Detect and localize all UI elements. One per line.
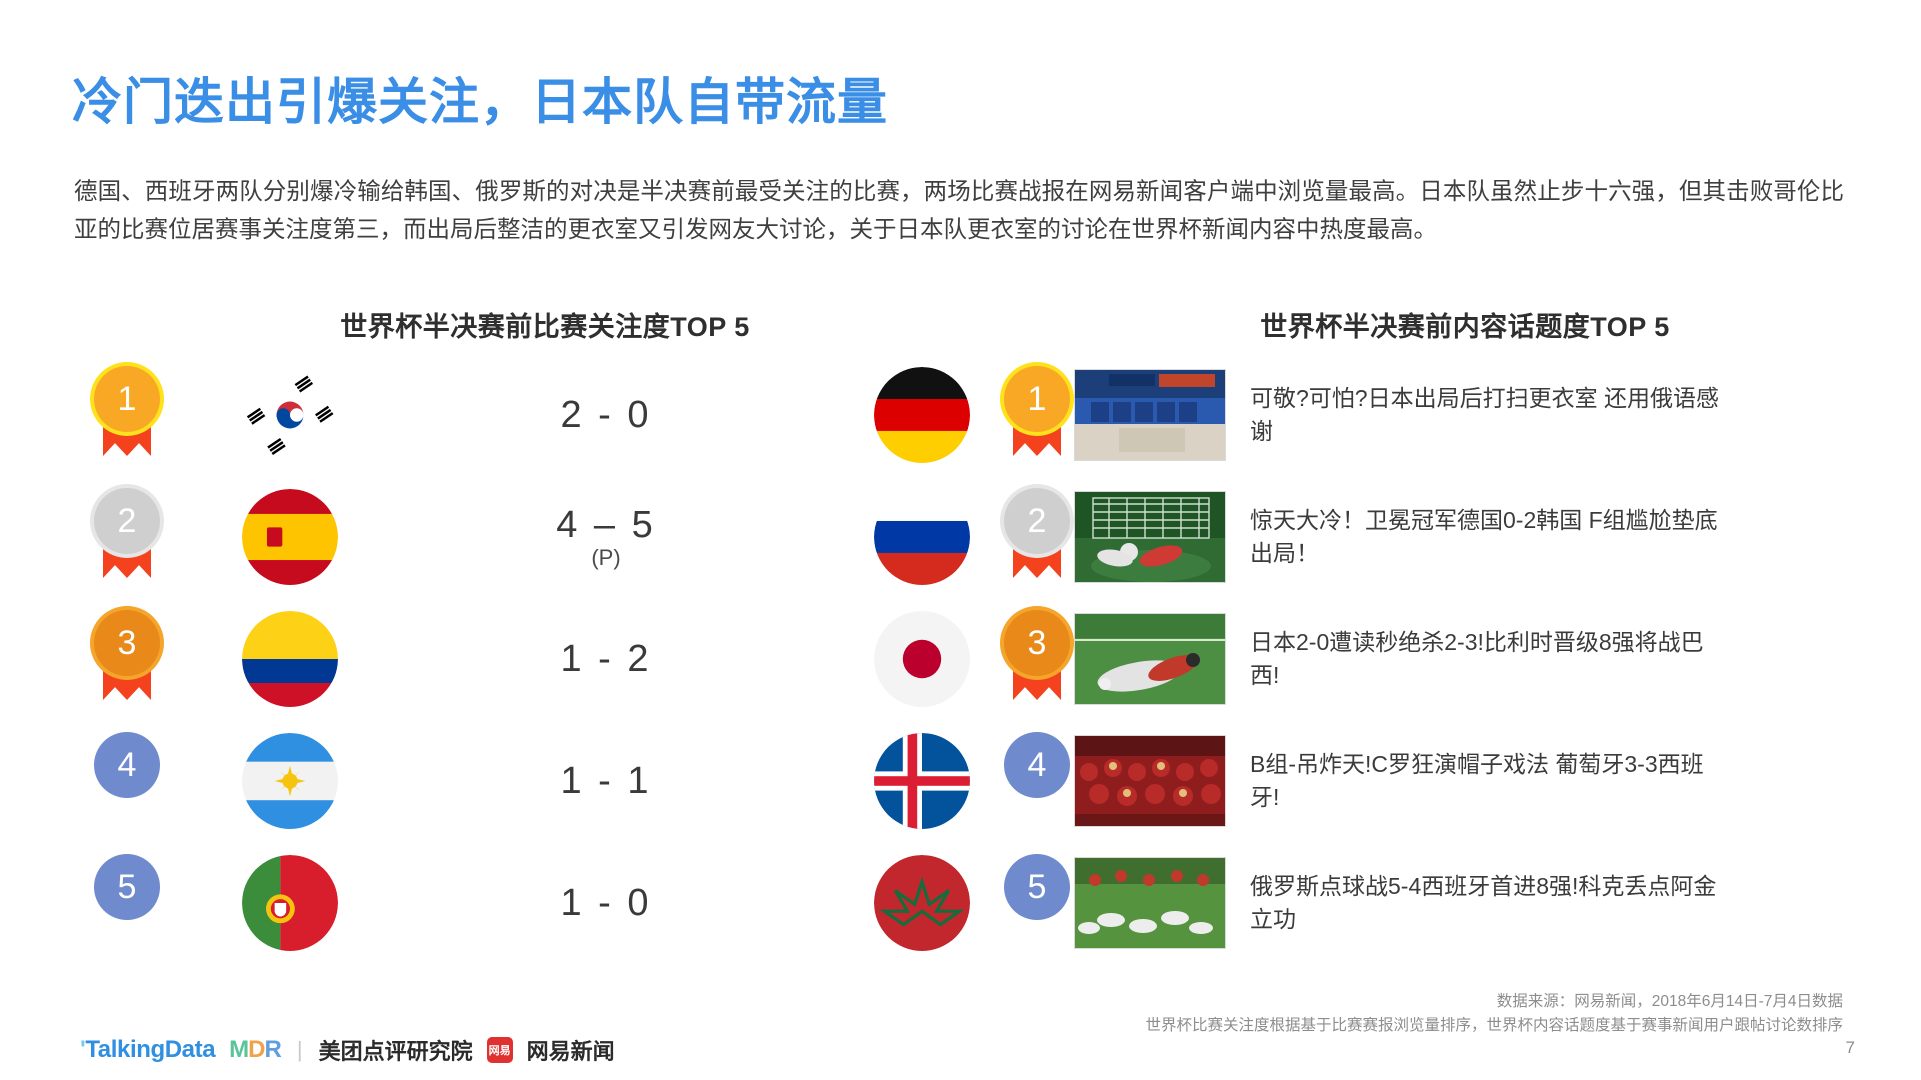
news-thumbnail[interactable] [1074,369,1226,461]
news-title[interactable]: 可敬?可怕?日本出局后打扫更衣室 还用俄语感谢 [1250,382,1720,448]
news-thumbnail[interactable] [1074,613,1226,705]
match-score: 1 - 2 [560,638,651,681]
page-number: 7 [1846,1038,1855,1058]
rank-badge: 1 [1000,366,1074,464]
rank-number: 1 [94,366,160,432]
score-note: (P) [591,545,620,571]
page-title: 冷门迭出引爆关注，日本队自带流量 [72,62,888,134]
match-attention-panel: 世界杯半决赛前比赛关注度TOP 5 1 [90,305,970,964]
list-item[interactable]: 4 B组-吊炸天!C罗狂演 [1000,720,1870,842]
rank-badge: 1 [90,366,164,464]
flag-germany-icon [874,367,970,463]
news-title[interactable]: 俄罗斯点球战5-4西班牙首进8强!科克丢点阿金立功 [1250,870,1720,936]
rank-badge: 4 [90,732,164,830]
score-cell: 1 - 0 [338,882,874,925]
table-row: 4 [90,720,970,842]
netease-mark-icon: 网易 [487,1037,513,1063]
news-thumbnail[interactable] [1074,491,1226,583]
intro-paragraph: 德国、西班牙两队分别爆冷输给韩国、俄罗斯的对决是半决赛前最受关注的比赛，两场比赛… [74,172,1844,248]
source-line-2: 世界杯比赛关注度根据基于比赛赛报浏览量排序，世界杯内容话题度基于赛事新闻用户跟帖… [1145,1014,1843,1038]
flag-portugal-icon [242,855,338,951]
list-item[interactable]: 1 可敬?可怕?日本出局后打扫更衣 [1000,354,1870,476]
rank-badge: 5 [1000,854,1074,952]
news-thumbnail[interactable] [1074,735,1226,827]
meituan-research-logo: 美团点评研究院 [319,1034,473,1066]
topic-heat-panel: 世界杯半决赛前内容话题度TOP 5 1 [1000,305,1870,964]
flag-colombia-icon [242,611,338,707]
rank-badge: 5 [90,854,164,952]
table-row: 1 2 - 0 [90,354,970,476]
rank-number: 4 [1004,732,1070,798]
table-row: 5 1 - 0 [90,842,970,964]
flag-japan-icon [874,611,970,707]
source-note: 数据来源：网易新闻，2018年6月14日-7月4日数据 世界杯比赛关注度根据基于… [1145,990,1843,1038]
talkingdata-logo: 'TalkingData [80,1036,215,1064]
netease-news-logo: 网易新闻 [527,1034,615,1066]
right-panel-title: 世界杯半决赛前内容话题度TOP 5 [1000,305,1870,344]
rank-number: 3 [1004,610,1070,676]
score-cell: 1 - 1 [338,760,874,803]
flag-iceland-icon [874,733,970,829]
match-score: 2 - 0 [560,394,651,437]
logo-divider: | [297,1037,303,1063]
list-item[interactable]: 2 惊天大冷！卫冕冠军德国0-2韩国 F组尴尬垫底出局！ [1000,476,1870,598]
mdr-logo: MDR [229,1036,281,1064]
match-score: 4 – 5 [556,504,656,547]
news-title[interactable]: 惊天大冷！卫冕冠军德国0-2韩国 F组尴尬垫底出局！ [1250,504,1720,570]
left-panel-title: 世界杯半决赛前比赛关注度TOP 5 [90,305,970,344]
flag-russia-icon [874,489,970,585]
rank-number: 3 [94,610,160,676]
flag-south-korea-icon [242,367,338,463]
score-cell: 2 - 0 [338,394,874,437]
score-cell: 1 - 2 [338,638,874,681]
table-row: 3 1 - 2 [90,598,970,720]
flag-spain-icon [242,489,338,585]
rank-number: 2 [94,488,160,554]
list-item[interactable]: 3 日本2-0遭读秒绝杀2-3!比利时晋级8强将战巴西! [1000,598,1870,720]
rank-number: 5 [94,854,160,920]
news-thumbnail[interactable] [1074,857,1226,949]
rank-number: 4 [94,732,160,798]
slide-canvas: 冷门迭出引爆关注，日本队自带流量 德国、西班牙两队分别爆冷输给韩国、俄罗斯的对决… [0,0,1921,1080]
news-title[interactable]: B组-吊炸天!C罗狂演帽子戏法 葡萄牙3-3西班牙! [1250,748,1720,814]
flag-morocco-icon [874,855,970,951]
match-score: 1 - 1 [560,760,651,803]
score-cell: 4 – 5 (P) [338,504,874,571]
table-row: 2 4 – 5 (P) [90,476,970,598]
source-line-1: 数据来源：网易新闻，2018年6月14日-7月4日数据 [1145,990,1843,1014]
match-score: 1 - 0 [560,882,651,925]
rank-number: 5 [1004,854,1070,920]
rank-badge: 3 [90,610,164,708]
rank-badge: 2 [1000,488,1074,586]
rank-badge: 4 [1000,732,1074,830]
flag-argentina-icon [242,733,338,829]
list-item[interactable]: 5 俄罗斯点球战5-4西班牙首进8强!科克丢点阿 [1000,842,1870,964]
rank-badge: 3 [1000,610,1074,708]
logo-bar: 'TalkingData MDR | 美团点评研究院 网易 网易新闻 [80,1034,615,1066]
rank-number: 2 [1004,488,1070,554]
rank-number: 1 [1004,366,1070,432]
news-title[interactable]: 日本2-0遭读秒绝杀2-3!比利时晋级8强将战巴西! [1250,626,1720,692]
rank-badge: 2 [90,488,164,586]
